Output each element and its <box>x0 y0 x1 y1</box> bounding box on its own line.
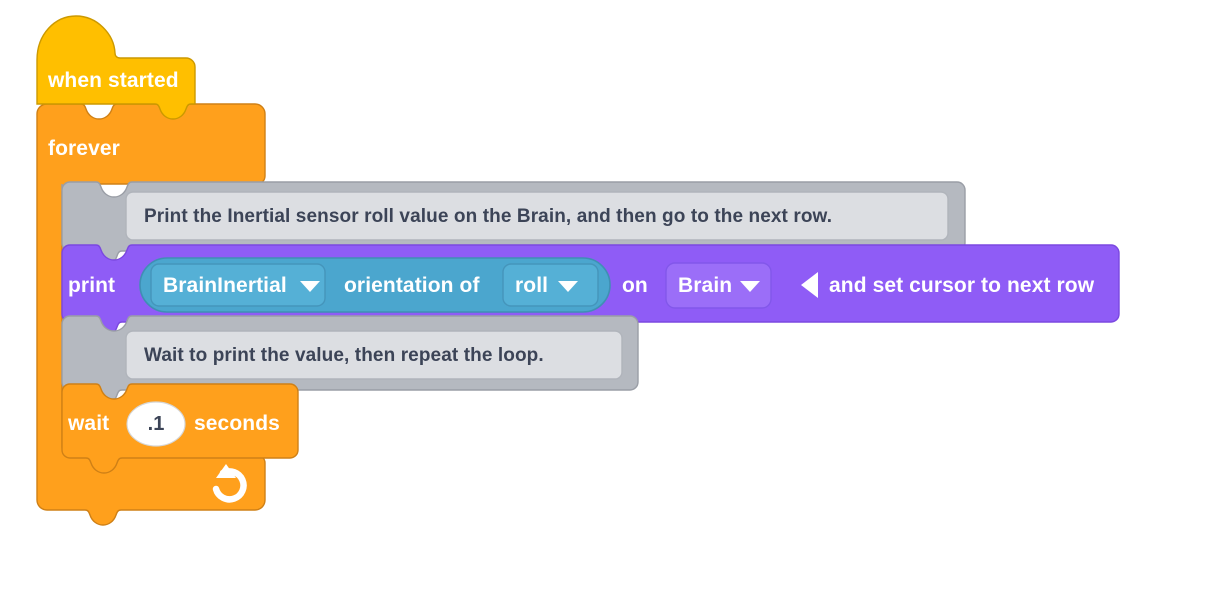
loop-arrow <box>200 460 260 506</box>
when-started-block[interactable] <box>37 16 195 104</box>
sensor-dropdown[interactable] <box>151 264 325 306</box>
wait-seconds-input[interactable] <box>127 402 185 446</box>
comment-2-editable-field[interactable] <box>126 331 622 379</box>
blocks-workspace[interactable]: when started forever Print the Inertial … <box>0 0 1210 602</box>
comment-1-editable-field[interactable] <box>126 192 948 240</box>
device-dropdown[interactable] <box>666 263 771 308</box>
forever-block[interactable] <box>37 104 265 184</box>
axis-dropdown[interactable] <box>503 264 598 306</box>
